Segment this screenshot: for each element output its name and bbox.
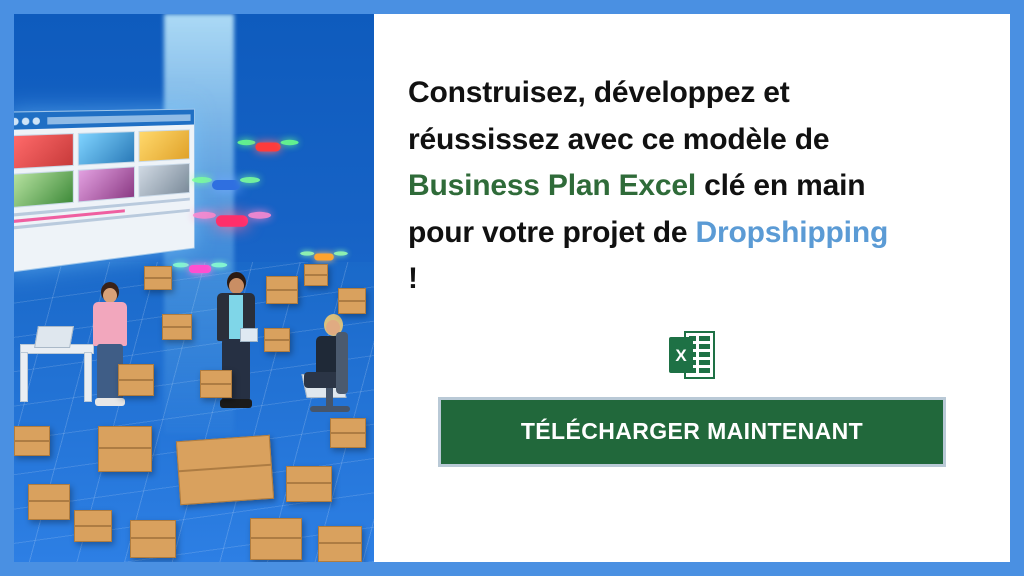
browser-address-bar (47, 114, 190, 124)
drone-body (255, 143, 280, 152)
headline-text-5: ! (408, 262, 418, 295)
parcel-box (264, 328, 290, 352)
parcel-box (130, 520, 176, 558)
parcel-box (144, 266, 172, 290)
drone-rotor (173, 263, 189, 268)
headline-line-4: pour votre projet de Dropshipping (408, 210, 976, 257)
cta-wrap: TÉLÉCHARGER MAINTENANT (408, 397, 976, 467)
drone-body (212, 180, 240, 190)
delivery-drone-icon (239, 137, 297, 157)
person-shoes (220, 399, 252, 408)
parcel-box (118, 364, 154, 396)
parcel-box (74, 510, 112, 542)
parcel-box (98, 426, 152, 472)
parcel-box (162, 314, 192, 340)
headline-highlight-excel: Business Plan Excel (408, 169, 696, 202)
headline-line-5: ! (408, 256, 976, 303)
product-tile (78, 166, 134, 202)
person-torso (93, 302, 127, 346)
headline: Construisez, développez et réussissez av… (408, 70, 976, 303)
tablet-icon (240, 328, 258, 342)
product-tile (138, 129, 190, 162)
delivery-drone-icon (195, 208, 269, 233)
chair-icon (336, 332, 348, 394)
parcel-box (318, 526, 362, 562)
headline-text-3: clé en main (696, 169, 865, 202)
illustration-panel (14, 14, 374, 562)
parcel-box (266, 276, 298, 304)
product-tile (14, 133, 74, 169)
delivery-drone-icon (302, 249, 347, 264)
chair-post (326, 388, 333, 408)
product-tile (138, 163, 190, 197)
browser-dot-icon (33, 117, 40, 125)
drone-body (189, 265, 211, 273)
product-tile (78, 131, 134, 166)
headline-text-4: pour votre projet de (408, 216, 696, 249)
poster-root: Construisez, développez et réussissez av… (0, 0, 1024, 576)
parcel-box (250, 518, 302, 560)
excel-file-glyph: X (669, 329, 715, 381)
excel-letter: X (675, 346, 687, 365)
poster-card: Construisez, développez et réussissez av… (14, 14, 1010, 562)
headline-line-1: Construisez, développez et (408, 70, 976, 117)
drone-rotor (334, 251, 348, 255)
delivery-drone-icon (194, 174, 258, 196)
headline-highlight-dropshipping: Dropshipping (696, 216, 889, 249)
excel-file-icon: X (669, 329, 715, 381)
content-panel: Construisez, développez et réussissez av… (374, 14, 1010, 562)
headline-text-2: réussissez avec ce modèle de (408, 123, 829, 156)
headline-text-1: Construisez, développez et (408, 76, 790, 109)
drone-body (314, 254, 334, 261)
browser-dot-icon (14, 117, 19, 125)
person-shoes (95, 398, 125, 406)
parcel-box (330, 418, 366, 448)
drone-rotor (240, 177, 260, 183)
drone-rotor (192, 177, 212, 183)
drone-rotor (193, 212, 216, 219)
headline-line-3: Business Plan Excel clé en main (408, 163, 976, 210)
drone-rotor (300, 251, 314, 255)
person-face (103, 288, 117, 303)
parcel-box (286, 466, 332, 502)
excel-icon-wrap: X (408, 329, 976, 381)
download-now-button[interactable]: TÉLÉCHARGER MAINTENANT (438, 397, 946, 467)
online-store-window (14, 109, 195, 274)
browser-dot-icon (22, 117, 30, 125)
parcel-box (200, 370, 232, 398)
parcel-box (338, 288, 366, 314)
person-face (229, 278, 244, 294)
parcel-box (304, 264, 328, 286)
product-tile (14, 170, 74, 208)
drone-body (216, 215, 248, 227)
drone-rotor (211, 263, 227, 268)
drone-rotor (281, 140, 299, 145)
drone-rotor (248, 212, 271, 219)
desk (20, 352, 28, 402)
parcel-box (176, 435, 274, 505)
headline-line-2: réussissez avec ce modèle de (408, 117, 976, 164)
parcel-box (14, 426, 50, 456)
laptop-icon (34, 326, 74, 348)
drone-rotor (237, 140, 255, 145)
parcel-box (28, 484, 70, 520)
